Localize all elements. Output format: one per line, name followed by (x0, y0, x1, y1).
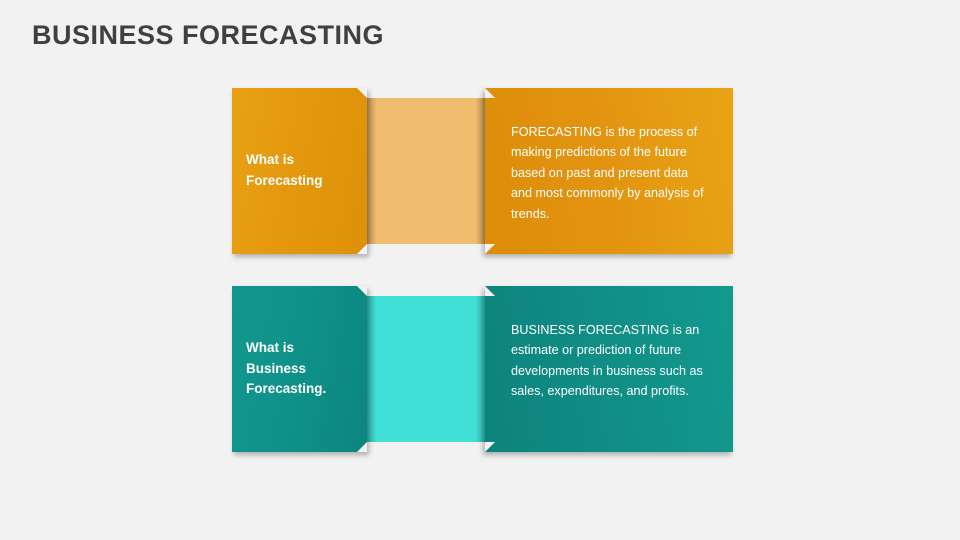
ribbon-notch-top-left (357, 286, 367, 296)
ribbon-fold-right-shadow (475, 296, 485, 442)
block-label-business-forecasting: What is Business Forecasting. (246, 338, 353, 401)
ribbon-left-panel-forecasting: What is Forecasting (232, 88, 367, 254)
block-body-forecasting: FORECASTING is the process of making pre… (511, 122, 707, 224)
ribbon-notch-top-right (485, 88, 495, 98)
slide-canvas: BUSINESS FORECASTING What is Forecasting… (0, 0, 960, 540)
ribbon-notch-bottom-left (357, 442, 367, 452)
ribbon-fold-left-shadow (367, 98, 377, 244)
ribbon-block-business-forecasting: What is Business Forecasting. BUSINESS F… (0, 286, 960, 452)
ribbon-fold-right-shadow (475, 98, 485, 244)
ribbon-notch-top-right (485, 286, 495, 296)
block-label-forecasting: What is Forecasting (246, 150, 353, 192)
block-body-business-forecasting: BUSINESS FORECASTING is an estimate or p… (511, 320, 707, 402)
ribbon-right-panel-business-forecasting: BUSINESS FORECASTING is an estimate or p… (485, 286, 733, 452)
ribbon-center-panel-business-forecasting (367, 296, 485, 442)
ribbon-notch-bottom-right (485, 244, 495, 254)
ribbon-fold-left-shadow (367, 296, 377, 442)
ribbon-left-panel-business-forecasting: What is Business Forecasting. (232, 286, 367, 452)
page-title: BUSINESS FORECASTING (32, 20, 384, 51)
ribbon-right-panel-forecasting: FORECASTING is the process of making pre… (485, 88, 733, 254)
ribbon-block-forecasting: What is Forecasting FORECASTING is the p… (0, 88, 960, 254)
ribbon-notch-bottom-left (357, 244, 367, 254)
ribbon-notch-top-left (357, 88, 367, 98)
ribbon-notch-bottom-right (485, 442, 495, 452)
ribbon-center-panel-forecasting (367, 98, 485, 244)
